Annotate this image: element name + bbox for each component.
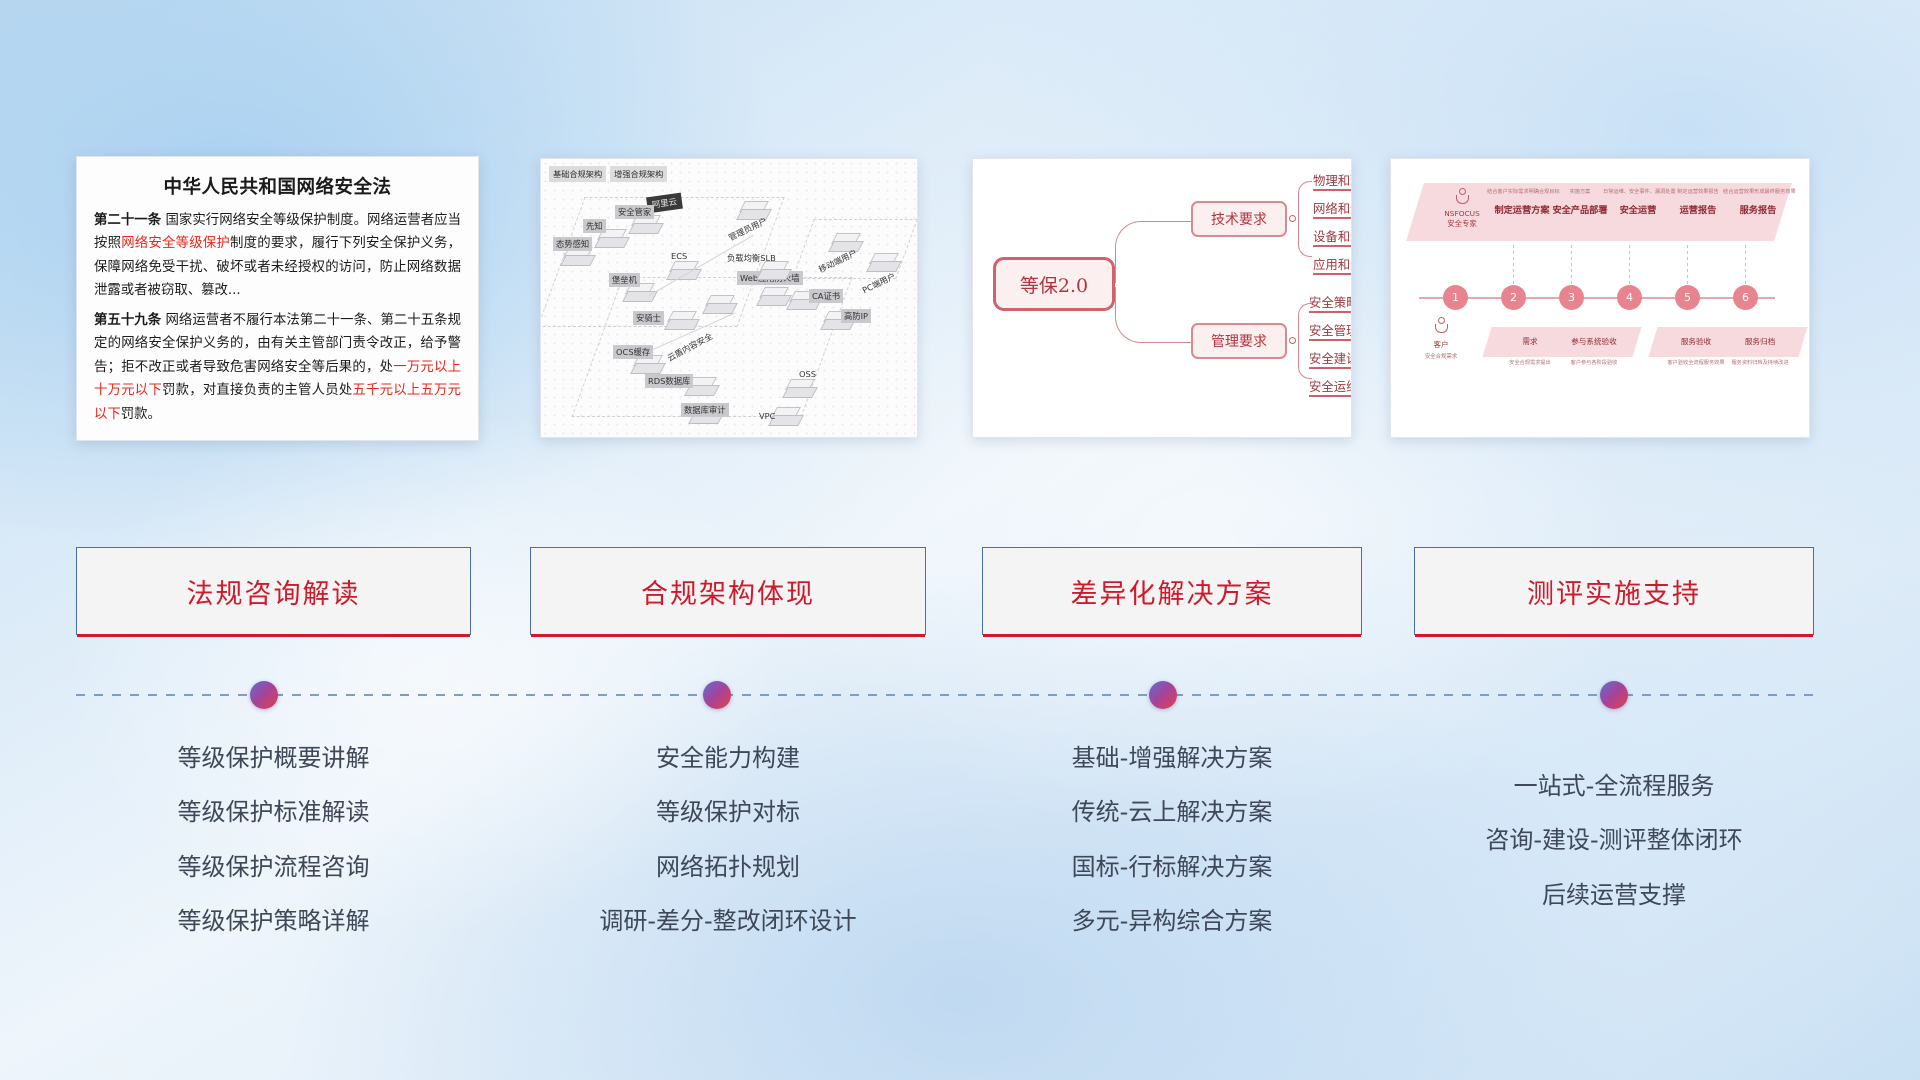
nsfocus-tick-2 [1571,245,1572,285]
mindmap-leaf-organization: 安全管理机构和人员 [1309,321,1352,341]
nsfocus-tick-1 [1513,245,1514,285]
section-header-3-label: 差异化解决方案 [1071,572,1274,611]
law-article-21: 第二十一条 国家实行网络安全等级保护制度。网络运营者应当按照网络安全等级保护制度… [94,209,461,303]
list-item: 基础-增强解决方案 [982,745,1362,771]
law-article-21-label: 第二十一条 [94,213,161,228]
arch-tab-basic[interactable]: 基础合规架构 [549,166,606,182]
law-article-59-text-c: 罚款。 [121,407,161,422]
nsfocus-bottom-4-sub: 服务资料归档及持续改进 [1705,359,1810,366]
arch-label-gaofangip: 高防IP [841,309,871,323]
nsfocus-buyer: 客户 安全合规需求 [1405,339,1477,360]
section-header-compliance-architecture[interactable]: 合规架构体现 [530,547,926,635]
mindmap-brace-technical [1298,181,1312,257]
section-header-2-label: 合规架构体现 [641,572,815,611]
architecture-tabs: 基础合规架构 增强合规架构 [549,166,667,182]
arch-node-waf [759,287,789,307]
mindmap-branch-technical: 技术要求 [1191,201,1287,237]
detail-list-assessment-support: 一站式-全流程服务 咨询-建设-测评整体闭环 后续运营支撑 [1414,773,1814,936]
nsfocus-tick-3 [1629,245,1630,285]
arch-node-anqishi [667,311,697,331]
mindmap-leaf-construction: 安全建设管理 [1309,349,1352,369]
preview-cards-row: 中华人民共和国网络安全法 第二十一条 国家实行网络安全等级保护制度。网络运营者应… [0,148,1920,448]
nsfocus-buyer-label: 客户 [1405,339,1477,350]
nsfocus-axis-line [1419,297,1775,299]
nsfocus-diagram: NSFOCUS 安全专家 结合客户实际需求明确合规目标 制定运营方案 实施方案 … [1391,159,1809,437]
arch-node-slb [759,261,789,281]
list-item: 安全能力构建 [530,745,926,771]
mindmap-root-node: 等保2.0 [993,257,1115,311]
mindmap-leaf-operations: 安全运维管理 [1309,377,1352,397]
list-item: 咨询-建设-测评整体闭环 [1414,827,1814,853]
law-article-59-label: 第五十九条 [94,313,161,328]
arch-label-situation: 态势感知 [553,237,592,251]
mindmap-dot-management [1289,337,1296,344]
mindmap: 等保2.0 技术要求 物理和环境安全 网络和通信安全 设备和计算安全 应用和数据… [973,159,1351,437]
mindmap-connector-tech [1115,221,1193,283]
arch-label-anqishi: 安骑士 [633,311,664,325]
nsfocus-step-5-sub: 结合运营效果形成最终服务效果 [1723,189,1793,195]
arch-label-guanjia: 安全管家 [615,205,654,219]
list-item: 等级保护概要讲解 [76,745,471,771]
timeline-dot-2[interactable] [703,681,731,709]
list-item: 网络拓扑规划 [530,854,926,880]
section-header-1-label: 法规咨询解读 [187,572,361,611]
law-article-59-text-b: 罚款，对直接负责的主管人员处 [162,383,352,398]
timeline-dashed-line [76,694,1814,696]
mindmap-leaf-device: 设备和计算安全 [1313,227,1352,247]
nsfocus-expert-block: NSFOCUS 安全专家 [1431,188,1493,228]
list-item: 国标-行标解决方案 [982,854,1362,880]
detail-list-compliance-architecture: 安全能力构建 等级保护对标 网络拓扑规划 调研-差分-整改闭环设计 [530,745,926,963]
nsfocus-tick-5 [1745,245,1746,285]
section-header-assessment-support[interactable]: 测评实施支持 [1414,547,1814,635]
arch-node-pc-user [869,253,899,273]
arch-label-ca: CA证书 [809,289,843,303]
arch-label-oss: OSS [799,369,816,379]
arch-label-ecs: ECS [671,251,687,261]
card-mindmap-dengbao[interactable]: 等保2.0 技术要求 物理和环境安全 网络和通信安全 设备和计算安全 应用和数据… [972,158,1352,438]
card-cloud-architecture[interactable]: 基础合规架构 增强合规架构 阿里云 态势感知 先知 安全管家 堡垒机 安骑士 W… [540,158,918,438]
nsfocus-marker-1: 1 [1443,285,1468,310]
list-item: 一站式-全流程服务 [1414,773,1814,799]
mindmap-connector-mgmt [1115,287,1193,343]
nsfocus-marker-4: 4 [1617,285,1642,310]
nsfocus-marker-6: 6 [1733,285,1758,310]
nsfocus-buyer-sub: 安全合规需求 [1405,352,1477,360]
section-header-differentiated-solution[interactable]: 差异化解决方案 [982,547,1362,635]
mindmap-leaf-network: 网络和通信安全 [1313,199,1352,219]
list-item: 等级保护对标 [530,799,926,825]
timeline-dot-3[interactable] [1149,681,1177,709]
arch-tab-enhanced[interactable]: 增强合规架构 [610,166,667,182]
arch-label-dbaudit: 数据库审计 [681,403,729,417]
arch-label-vpc: VPC [759,411,775,421]
card-cybersecurity-law[interactable]: 中华人民共和国网络安全法 第二十一条 国家实行网络安全等级保护制度。网络运营者应… [76,156,479,441]
law-title: 中华人民共和国网络安全法 [94,173,461,199]
list-item: 等级保护标准解读 [76,799,471,825]
nsfocus-marker-5: 5 [1675,285,1700,310]
law-article-59: 第五十九条 网络运营者不履行本法第二十一条、第二十五条规定的网络安全保护义务的，… [94,309,461,426]
mindmap-dot-technical [1289,215,1296,222]
architecture-diagram: 基础合规架构 增强合规架构 阿里云 态势感知 先知 安全管家 堡垒机 安骑士 W… [541,159,917,437]
buyer-person-icon [1435,317,1448,337]
arch-label-rds: RDS数据库 [645,374,693,388]
law-article-21-highlight: 网络安全等级保护 [121,236,230,251]
card-nsfocus-timeline[interactable]: NSFOCUS 安全专家 结合客户实际需求明确合规目标 制定运营方案 实施方案 … [1390,158,1810,438]
arch-label-ocs: OCS缓存 [613,345,653,359]
arch-label-xianzhi: 先知 [583,219,606,233]
mindmap-leaf-application: 应用和数据安全 [1313,255,1352,275]
list-item: 多元-异构综合方案 [982,908,1362,934]
arch-node-content-security [705,295,735,315]
nsfocus-bottom-4-main: 服务归档 [1717,336,1803,347]
person-icon [1456,188,1469,208]
arch-node-vpc [771,407,801,427]
timeline-dot-4[interactable] [1600,681,1628,709]
nsfocus-expert-role: 安全专家 [1431,219,1493,229]
nsfocus-band-content: NSFOCUS 安全专家 结合客户实际需求明确合规目标 制定运营方案 实施方案 … [1415,183,1783,241]
arch-label-bastion: 堡垒机 [609,273,640,287]
list-item: 等级保护策略详解 [76,908,471,934]
mindmap-leaf-policy: 安全策略和管理制度 [1309,293,1352,313]
arch-node-oss [785,379,815,399]
nsfocus-tick-4 [1687,245,1688,285]
nsfocus-brand: NSFOCUS [1431,209,1493,219]
mindmap-branch-management: 管理要求 [1191,323,1287,359]
nsfocus-step-5: 结合运营效果形成最终服务效果 服务报告 [1723,189,1793,216]
timeline-dot-1[interactable] [250,681,278,709]
arch-node-ecs [669,261,699,281]
section-header-regulation-consulting[interactable]: 法规咨询解读 [76,547,471,635]
mindmap-leaf-physical: 物理和环境安全 [1313,171,1352,191]
nsfocus-bottom-2-sub: 客户参与各阶段验收 [1539,359,1649,366]
arch-label-slb: 负载均衡SLB [727,252,776,264]
list-item: 传统-云上解决方案 [982,799,1362,825]
list-item: 后续运营支撑 [1414,882,1814,908]
detail-list-differentiated-solution: 基础-增强解决方案 传统-云上解决方案 国标-行标解决方案 多元-异构综合方案 [982,745,1362,963]
nsfocus-marker-3: 3 [1559,285,1584,310]
nsfocus-step-5-main: 服务报告 [1723,202,1793,216]
list-item: 调研-差分-整改闭环设计 [530,908,926,934]
list-item: 等级保护流程咨询 [76,854,471,880]
section-header-4-label: 测评实施支持 [1527,572,1701,611]
section-headers-row: 法规咨询解读 合规架构体现 差异化解决方案 测评实施支持 [0,547,1920,639]
nsfocus-bottom-2-main: 参与系统验收 [1551,336,1637,347]
detail-list-regulation-consulting: 等级保护概要讲解 等级保护标准解读 等级保护流程咨询 等级保护策略详解 [76,745,471,963]
nsfocus-marker-2: 2 [1501,285,1526,310]
